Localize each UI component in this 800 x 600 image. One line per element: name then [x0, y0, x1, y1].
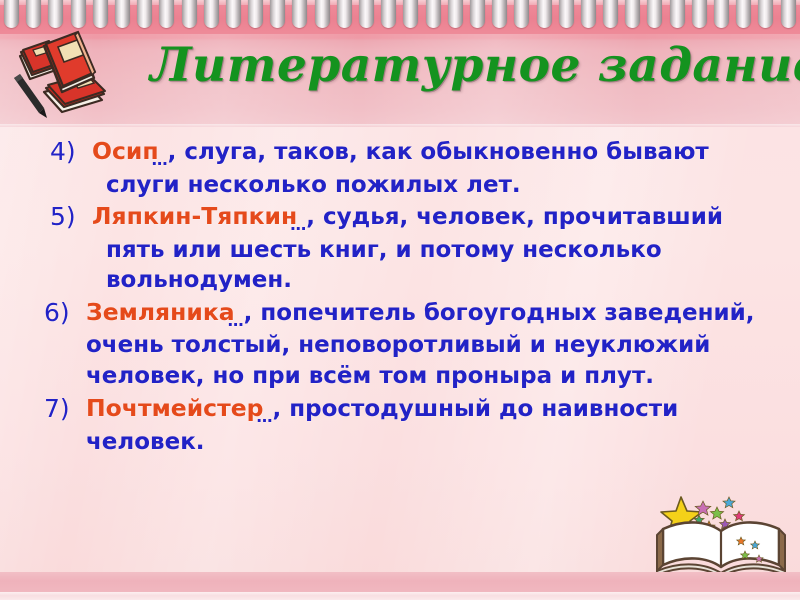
binding-ring-icon	[714, 0, 729, 28]
binding-ring-icon	[248, 0, 263, 28]
binding-ring-icon	[26, 0, 41, 28]
list-item-body: Почтмейстер…, простодушный до наивности …	[86, 393, 784, 457]
list-item: 6) Земляника…, попечитель богоугодных за…	[44, 297, 784, 392]
open-book-with-stars-icon	[655, 485, 790, 580]
binding-ring-icon	[647, 0, 662, 28]
ellipsis-blank: …	[228, 311, 243, 330]
list-item-body: Земляника…, попечитель богоугодных завед…	[86, 297, 784, 392]
assignment-list: 4) Осип…, слуга, таков, как обыкновенно …	[44, 136, 784, 457]
list-item-number: 6)	[44, 297, 86, 328]
binding-ring-icon	[292, 0, 307, 28]
binding-ring-icon	[559, 0, 574, 28]
character-name: Почтмейстер	[86, 394, 264, 422]
binding-ring-icon	[448, 0, 463, 28]
binding-ring-icon	[492, 0, 507, 28]
binding-ring-icon	[692, 0, 707, 28]
binding-ring-icon	[137, 0, 152, 28]
binding-ring-icon	[226, 0, 241, 28]
binding-ring-icon	[603, 0, 618, 28]
binding-ring-icon	[736, 0, 751, 28]
binding-ring-icon	[403, 0, 418, 28]
list-item-body: Осип…, слуга, таков, как обыкновенно быв…	[92, 136, 784, 200]
binding-ring-icon	[315, 0, 330, 28]
list-item-text: , слуга, таков, как обыкновенно бывают с…	[106, 139, 709, 198]
ellipsis-blank: …	[257, 407, 272, 426]
bottom-edge	[0, 592, 800, 600]
list-item-body: Ляпкин-Тяпкин…, судья, человек, прочитав…	[92, 201, 784, 296]
binding-ring-icon	[625, 0, 640, 28]
binding-ring-icon	[470, 0, 485, 28]
list-item: 4) Осип…, слуга, таков, как обыкновенно …	[50, 136, 784, 200]
character-name: Осип	[92, 137, 159, 165]
binding-ring-icon	[4, 0, 19, 28]
binding-ring-icon	[71, 0, 86, 28]
binding-ring-icon	[426, 0, 441, 28]
binding-ring-icon	[670, 0, 685, 28]
binding-ring-icon	[182, 0, 197, 28]
list-item: 7) Почтмейстер…, простодушный до наивнос…	[44, 393, 784, 457]
character-name: Ляпкин-Тяпкин	[92, 202, 297, 230]
binding-ring-icon	[159, 0, 174, 28]
ellipsis-blank: …	[152, 150, 167, 169]
slide-canvas: Литературное задание 4) Осип…, слуга, та…	[0, 0, 800, 600]
list-item-number: 4)	[50, 136, 92, 167]
binding-ring-icon	[581, 0, 596, 28]
binding-ring-icon	[93, 0, 108, 28]
spiral-binding-rings	[0, 0, 800, 40]
stack-of-red-books-with-pen-icon	[6, 30, 116, 122]
binding-ring-icon	[359, 0, 374, 28]
binding-ring-icon	[781, 0, 796, 28]
binding-ring-icon	[204, 0, 219, 28]
binding-ring-icon	[115, 0, 130, 28]
list-item-number: 7)	[44, 393, 86, 424]
list-item: 5) Ляпкин-Тяпкин…, судья, человек, прочи…	[50, 201, 784, 296]
page-title: Литературное задание	[150, 38, 750, 94]
binding-ring-icon	[537, 0, 552, 28]
character-name: Земляника	[86, 298, 235, 326]
binding-ring-icon	[337, 0, 352, 28]
binding-ring-icon	[758, 0, 773, 28]
binding-ring-icon	[514, 0, 529, 28]
list-item-number: 5)	[50, 201, 92, 232]
bottom-band	[0, 572, 800, 592]
binding-ring-icon	[48, 0, 63, 28]
binding-ring-icon	[270, 0, 285, 28]
ellipsis-blank: …	[290, 215, 305, 234]
binding-ring-icon	[381, 0, 396, 28]
